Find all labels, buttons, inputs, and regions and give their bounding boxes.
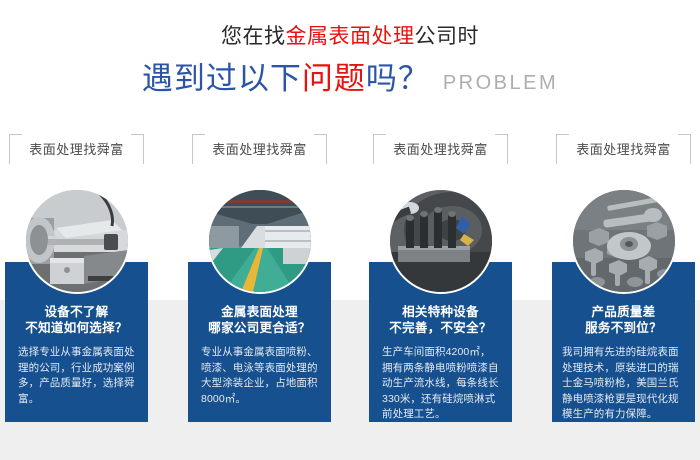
card-photo-lathe-machining <box>24 188 130 294</box>
card-tab-3: 表面处理找舜富 <box>369 130 512 166</box>
page-title-highlight: 问题 <box>302 61 366 96</box>
card-content-2: 金属表面处理 哪家公司更合适？ 专业从事金属表面喷粉、喷漆、电泳等表面处理的大型… <box>188 304 331 407</box>
card-heading-line2: 哪家公司更合适？ <box>208 321 310 335</box>
card-heading: 金属表面处理 哪家公司更合适？ <box>196 304 323 336</box>
card-photo-special-equipment <box>388 188 494 294</box>
card-heading: 设备不了解 不知道如何选择？ <box>13 304 140 336</box>
header-subtitle-prefix: 您在找 <box>221 25 286 48</box>
card-heading-line1: 设备不了解 <box>44 305 108 319</box>
card-description: 我司拥有先进的硅烷表面处理技术，原装进口的瑞士金马喷粉枪，美国兰氏静电喷漆枪更是… <box>560 345 687 423</box>
card-heading-line2: 服务不到位？ <box>585 321 662 335</box>
page-header: 您在找金属表面处理公司时 遇到过以下问题吗？PROBLEM <box>0 0 700 120</box>
card-heading-line1: 金属表面处理 <box>221 305 298 319</box>
card-content-1: 设备不了解 不知道如何选择？ 选择专业从事金属表面处理的公司，行业成功案例多，产… <box>5 304 148 407</box>
card-tab-4: 表面处理找舜富 <box>552 130 695 166</box>
problem-card-1[interactable]: 表面处理找舜富 <box>5 130 148 430</box>
card-tab-label: 表面处理找舜富 <box>552 139 695 158</box>
card-photo-coated-fasteners <box>571 188 677 294</box>
card-heading-line2: 不知道如何选择？ <box>25 321 127 335</box>
card-heading-line1: 产品质量差 <box>591 305 655 319</box>
card-heading-line1: 相关特种设备 <box>402 305 479 319</box>
card-description: 生产车间面积4200㎡，拥有两条静电喷粉喷漆自动生产流水线，每条线长330米，还… <box>377 345 504 423</box>
problem-card-2[interactable]: 表面处理找舜富 <box>188 130 331 430</box>
card-tab-label: 表面处理找舜富 <box>5 139 148 158</box>
header-subtitle-suffix: 公司时 <box>415 25 480 48</box>
card-content-3: 相关特种设备 不完善，不安全？ 生产车间面积4200㎡，拥有两条静电喷粉喷漆自动… <box>369 304 512 423</box>
card-description: 专业从事金属表面喷粉、喷漆、电泳等表面处理的大型涂装企业，占地面积8000㎡。 <box>196 345 323 407</box>
card-heading: 产品质量差 服务不到位？ <box>560 304 687 336</box>
card-tab-label: 表面处理找舜富 <box>369 139 512 158</box>
page-title: 遇到过以下问题吗？PROBLEM <box>0 52 700 105</box>
card-tab-1: 表面处理找舜富 <box>5 130 148 166</box>
problem-cards: 表面处理找舜富 <box>0 130 700 430</box>
page-title-main: 遇到过以下问题吗？ <box>142 61 430 96</box>
card-content-4: 产品质量差 服务不到位？ 我司拥有先进的硅烷表面处理技术，原装进口的瑞士金马喷粉… <box>552 304 695 423</box>
header-subtitle: 您在找金属表面处理公司时 <box>0 0 700 52</box>
problem-card-4[interactable]: 表面处理找舜富 <box>552 130 695 430</box>
card-photo-factory-workshop <box>207 188 313 294</box>
page-title-prefix: 遇到过以下 <box>142 61 302 96</box>
card-tab-label: 表面处理找舜富 <box>188 139 331 158</box>
page-title-suffix: 吗？ <box>366 61 430 96</box>
header-subtitle-highlight: 金属表面处理 <box>286 25 415 48</box>
problem-card-3[interactable]: 表面处理找舜富 <box>369 130 512 430</box>
card-heading: 相关特种设备 不完善，不安全？ <box>377 304 504 336</box>
card-tab-2: 表面处理找舜富 <box>188 130 331 166</box>
card-heading-line2: 不完善，不安全？ <box>389 321 491 335</box>
card-description: 选择专业从事金属表面处理的公司，行业成功案例多，产品质量好，选择舜富。 <box>13 345 140 407</box>
page-title-english: PROBLEM <box>443 72 558 94</box>
